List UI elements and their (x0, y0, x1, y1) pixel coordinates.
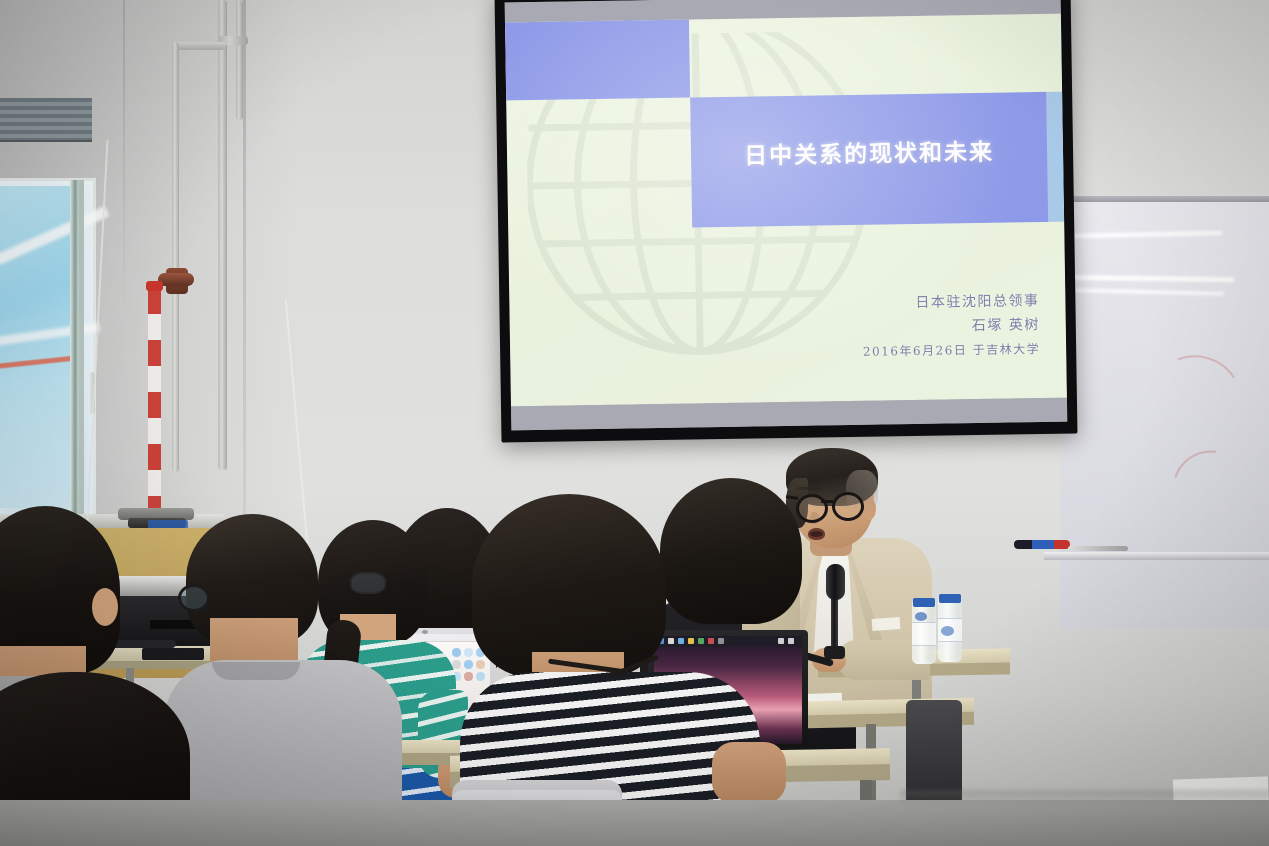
pole-top-cap (146, 281, 163, 291)
microphone-joint (824, 646, 845, 659)
student-foreground-ear (92, 588, 118, 626)
water-bottle-label (912, 622, 936, 646)
presenter-pocket-square (872, 617, 901, 631)
taskbar-icon-7[interactable] (718, 638, 724, 644)
microphone-head (826, 564, 845, 600)
water-bottle-cap-2[interactable] (939, 594, 961, 603)
taskbar-icon-2[interactable] (668, 638, 674, 644)
macbook-app-icon-5[interactable] (464, 660, 473, 669)
wall-seam-secondary (123, 0, 125, 300)
wall-pipe-vertical-3 (172, 42, 179, 472)
projection-screen: 日中关系的现状和未来 日本驻沈阳总领事 石塚 英树 2016年6月26日 于吉林… (495, 0, 1078, 442)
student-dark-shirt-hair (660, 478, 802, 624)
whiteboard-marker[interactable] (1014, 540, 1070, 549)
whiteboard (1060, 196, 1269, 628)
presentation-slide: 日中关系的现状和未来 日本驻沈阳总领事 石塚 英树 2016年6月26日 于吉林… (505, 14, 1067, 407)
student-teal-striped-glasses (350, 572, 386, 594)
taskbar-icon-3[interactable] (678, 638, 684, 644)
window-blinds (0, 98, 92, 142)
macbook-app-icon-6[interactable] (476, 660, 485, 669)
presenter-glasses-lens-left (796, 494, 828, 523)
taskbar-icon-9[interactable] (788, 638, 794, 644)
classroom-lecture-photo: w + ( ) - (0, 0, 1269, 846)
presenter-eyebrow (797, 487, 821, 490)
whiteboard-top-rail (1060, 196, 1269, 202)
projection-screen-surface: 日中关系的现状和未来 日本驻沈阳总领事 石塚 英树 2016年6月26日 于吉林… (505, 0, 1068, 430)
water-bottle-logo (915, 612, 927, 621)
window-sash (70, 180, 79, 518)
microphone-stem (831, 596, 838, 652)
taskbar-icon-5[interactable] (698, 638, 704, 644)
presenter-glasses-lens-right (832, 492, 864, 521)
wall-pipe-vertical (218, 0, 227, 470)
wall-pipe-vertical-2 (236, 0, 243, 120)
desk-remote (110, 640, 176, 648)
slide-subtitle-line-2: 石塚 英树 (730, 314, 1058, 339)
taskbar-icon-4[interactable] (688, 638, 694, 644)
whiteboard-marker-2[interactable] (1068, 546, 1128, 551)
presenter-mouth-inner (810, 531, 823, 537)
macbook-app-icon-4[interactable] (452, 660, 461, 669)
taskbar-icon-8[interactable] (778, 638, 784, 644)
presenter-glasses-bridge (821, 500, 833, 503)
desk-device (142, 648, 204, 660)
student-grey-tshirt-glasses (178, 584, 210, 612)
macbook-camera (422, 630, 428, 634)
wall-seam (243, 0, 246, 560)
student-grey-tshirt-collar (212, 662, 300, 680)
slide-subtitle-line-1: 日本驻沈阳总领事 (729, 290, 1039, 315)
macbook-app-icon[interactable] (452, 648, 461, 657)
water-bottle-logo-2 (941, 626, 954, 636)
window-sash-edge (79, 180, 84, 518)
student-striped-arm (712, 742, 786, 804)
taskbar-icon-6[interactable] (708, 638, 714, 644)
whiteboard-marker-ledge (1044, 552, 1269, 560)
macbook-app-icon-2[interactable] (464, 648, 473, 657)
slide-accent-block (505, 20, 690, 101)
red-white-striped-pole (148, 288, 161, 524)
wall-pipe-elbow-2 (172, 42, 226, 50)
water-bottle-cap[interactable] (913, 598, 935, 607)
wall-base-shadow (900, 790, 1269, 804)
pipe-valve-knob (158, 273, 194, 286)
floor (0, 800, 1269, 846)
student-striped-hair (472, 494, 666, 678)
slide-title: 日中关系的现状和未来 (697, 132, 1041, 171)
macbook-app-icon-8[interactable] (464, 672, 473, 681)
macbook-app-icon-9[interactable] (476, 672, 485, 681)
